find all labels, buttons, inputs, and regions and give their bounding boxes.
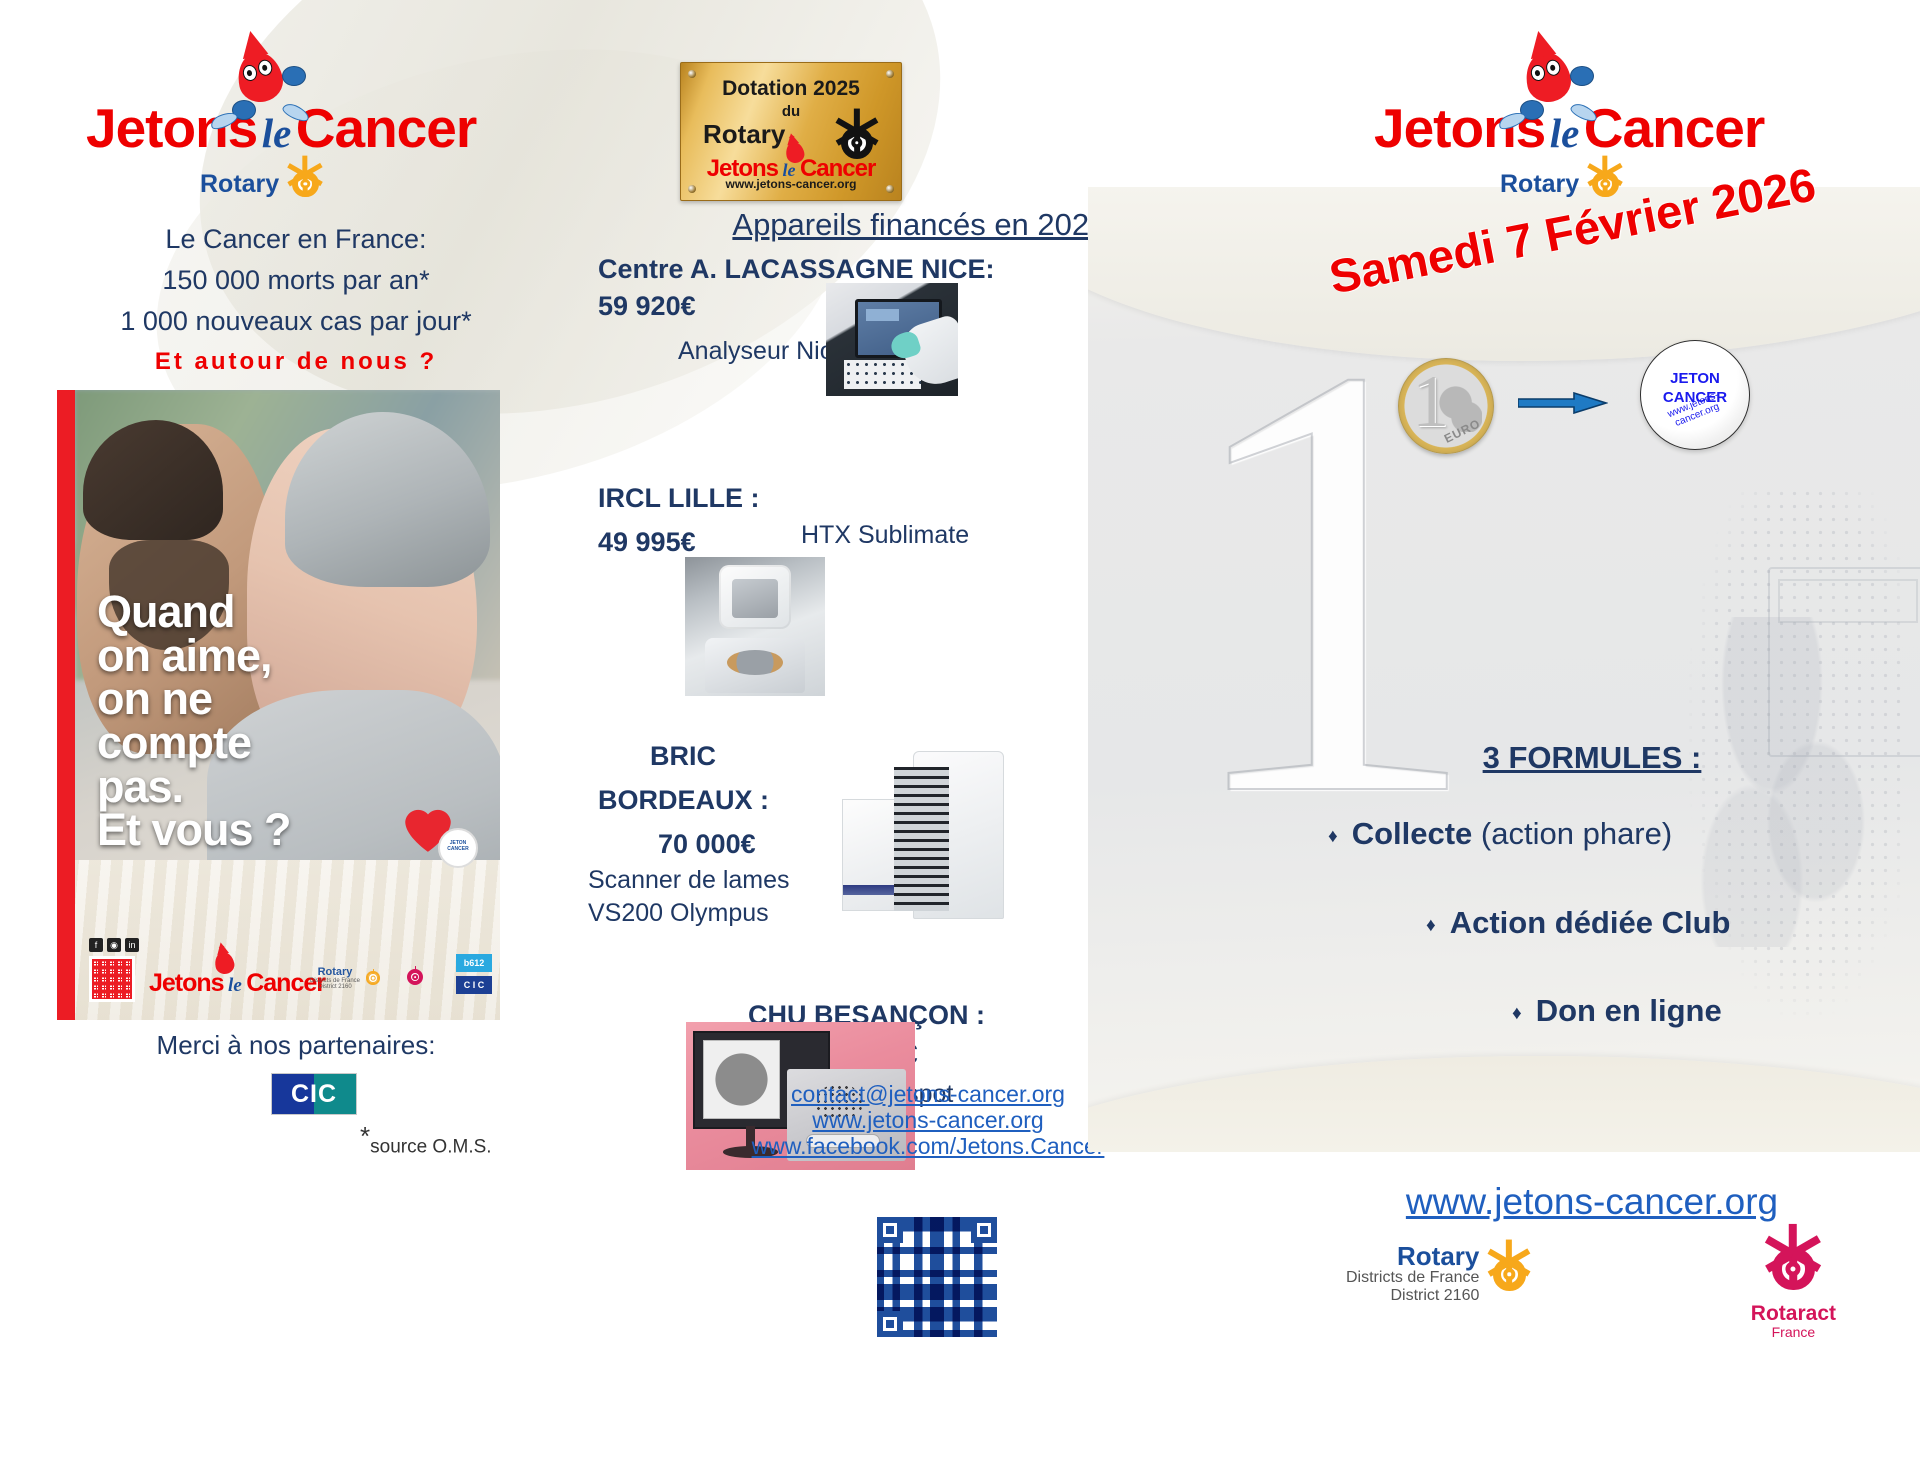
poster-logo-word-le: le xyxy=(228,975,242,996)
partner-cic-logo: CIC xyxy=(271,1073,357,1115)
device-photo-analyseur-nio xyxy=(826,283,958,396)
formule-item-collecte: ♦Collecte (action phare) xyxy=(1328,816,1672,852)
device-org-bric-line-2: BORDEAUX : xyxy=(598,785,769,816)
formule-label-action-dediee: Action dédiée Club xyxy=(1450,905,1731,940)
call-to-action-text: Et autour de nous ? xyxy=(0,348,592,376)
device-amount-bric-bordeaux: 70 000€ xyxy=(658,829,756,860)
poster-rotary-label: Rotary xyxy=(310,966,360,978)
poster-rotary-sub-2: District 2160 xyxy=(310,984,360,990)
poster-quote: Quand on aime, on ne compte pas. Et vous… xyxy=(97,590,437,852)
poster-quote-line-5: pas. xyxy=(97,765,437,809)
right-panel-background-band: 1 xyxy=(1088,187,1920,1152)
linkedin-icon: in xyxy=(125,938,139,952)
logo-word-cancer: Cancer xyxy=(296,97,476,159)
plaque-url: www.jetons-cancer.org xyxy=(681,177,901,191)
poster-jeton-badge: JETON CANCER xyxy=(438,828,478,868)
poster-logo-word-jetons: Jetons xyxy=(149,969,224,997)
rotaract-wheel-icon xyxy=(1764,1240,1822,1298)
plaque-line-dotation: Dotation 2025 xyxy=(681,77,901,101)
mascot-eye-right-icon-right xyxy=(1545,58,1562,77)
plaque-line-du: du xyxy=(681,103,901,120)
plaque-line-rotary: Rotary xyxy=(703,119,785,150)
bullet-diamond-icon-2: ♦ xyxy=(1426,915,1436,936)
formules-heading: 3 FORMULES : xyxy=(1264,740,1920,776)
poster-logo-jetons-le-cancer: Jetons le Cancer xyxy=(149,969,325,998)
formule-note-collecte: (action phare) xyxy=(1472,816,1672,851)
source-footnote: *source O.M.S. xyxy=(360,1121,492,1158)
jeton-token-graphic: JETON CANCER www.jetons-cancer.org xyxy=(1640,340,1750,450)
poster-quote-line-2: on aime, xyxy=(97,634,437,678)
poster-partner-cic-logo: C I C xyxy=(456,976,492,994)
device-slide-rack xyxy=(894,767,949,911)
stat-deaths-per-year: 150 000 morts par an* xyxy=(0,265,592,296)
logo-word-le: le xyxy=(262,110,292,156)
rotaract-lockup: Rotaract France xyxy=(1751,1240,1836,1340)
device-org-lacassagne: Centre A. LACASSAGNE NICE: xyxy=(598,254,995,285)
bullet-diamond-icon-1: ♦ xyxy=(1328,826,1338,847)
panel-left: Jetons le Cancer Rotary xyxy=(0,0,592,1483)
source-asterisk: * xyxy=(360,1121,370,1151)
logo-right-word-le: le xyxy=(1550,110,1580,156)
device-photo-htx-sublimate xyxy=(685,557,825,696)
logo-right-word-cancer: Cancer xyxy=(1584,97,1764,159)
device-org-ircl-lille: IRCL LILLE : xyxy=(598,483,760,514)
rotary-districts-name: Rotary xyxy=(1346,1243,1479,1269)
poster-quote-line-3: on ne xyxy=(97,677,437,721)
device-amount-lacassagne: 59 920€ xyxy=(598,291,696,322)
rotaract-name: Rotaract xyxy=(1751,1303,1836,1324)
facebook-icon: f xyxy=(89,938,103,952)
device-photo-vs200-olympus xyxy=(842,735,1004,935)
euro-coin-graphic: 1 EURO xyxy=(1398,358,1494,454)
poster-rotaract-wheel-icon xyxy=(404,966,426,988)
jeton-token-line-1: JETON xyxy=(1641,370,1749,387)
instagram-icon: ◉ xyxy=(107,938,121,952)
poster-quote-line-1: Quand xyxy=(97,590,437,634)
poster-partner-b612-logo: b612 xyxy=(456,954,492,972)
logo-jetons-le-cancer-right: Jetons le Cancer xyxy=(1374,96,1764,160)
poster-footer-bar: f ◉ in Jetons le Cancer Rotary Dist xyxy=(75,930,500,1020)
device-name-scanner-line-1: Scanner de lames xyxy=(588,866,790,895)
mascot-eye-left-icon-right xyxy=(1529,64,1546,83)
mascot-eye-right-icon xyxy=(257,58,274,77)
rotaract-sub: France xyxy=(1751,1324,1836,1340)
device-name-scanner-line-2: VS200 Olympus xyxy=(588,899,769,928)
partners-heading: Merci à nos partenaires: xyxy=(0,1030,592,1061)
poster-rotary-wheel-icon xyxy=(364,969,382,987)
mascot-eye-left-icon xyxy=(241,64,258,83)
cic-logo-text: CIC xyxy=(272,1074,356,1114)
rotary-label: Rotary xyxy=(200,170,279,199)
logo-jetons-le-cancer-left: Jetons le Cancer xyxy=(86,96,476,160)
qr-code[interactable] xyxy=(877,1217,997,1337)
formule-label-collecte: Collecte xyxy=(1352,816,1473,851)
formule-item-action-dediee: ♦Action dédiée Club xyxy=(1426,905,1730,941)
watermark-frame-relief xyxy=(1768,567,1920,757)
poster-red-accent-bar xyxy=(57,390,75,1020)
rotary-districts-lockup: Rotary Districts de France District 2160 xyxy=(1346,1243,1531,1306)
boxing-glove-right-icon-right xyxy=(1570,66,1594,86)
poster-qr-code-icon xyxy=(89,956,135,1002)
background-wave-bottom xyxy=(1088,1056,1920,1153)
bullet-diamond-icon-3: ♦ xyxy=(1512,1003,1522,1024)
rotary-districts-sub-1: Districts de France xyxy=(1346,1269,1479,1287)
brochure-tri-fold: Jetons le Cancer Rotary xyxy=(0,0,1920,1483)
boxing-glove-right-icon xyxy=(282,66,306,86)
rotary-lockup-left: Rotary xyxy=(200,166,323,202)
device-lid xyxy=(719,565,792,629)
stat-new-cases-per-day: 1 000 nouveaux cas par jour* xyxy=(0,306,592,337)
qr-finder-top-right-icon xyxy=(971,1217,997,1243)
website-link-right[interactable]: www.jetons-cancer.org xyxy=(1264,1181,1920,1223)
rotary-districts-text: Rotary Districts de France District 2160 xyxy=(1346,1243,1479,1306)
device-base xyxy=(705,638,806,694)
campaign-poster-image: Quand on aime, on ne compte pas. Et vous… xyxy=(57,390,500,1020)
formule-label-don-en-ligne: Don en ligne xyxy=(1536,993,1722,1028)
rotary-label-right: Rotary xyxy=(1500,170,1579,199)
poster-quote-line-6: Et vous ? xyxy=(97,808,437,852)
poster-quote-line-4: compte xyxy=(97,721,437,765)
poster-rotary-lockup: Rotary Districts de France District 2160 xyxy=(310,966,382,990)
poster-social-icons: f ◉ in xyxy=(89,938,139,952)
arrow-right-icon xyxy=(1518,392,1608,414)
device-name-htx-sublimate: HTX Sublimate xyxy=(801,521,969,550)
device-name-analyseur-nio: Analyseur Nio xyxy=(678,337,834,366)
stat-heading: Le Cancer en France: xyxy=(0,224,592,255)
qr-finder-top-left-icon xyxy=(877,1217,903,1243)
dotation-plaque: Dotation 2025 du Rotary Jetons le Cancer xyxy=(680,62,902,201)
qr-finder-bottom-left-icon xyxy=(877,1311,903,1337)
rotary-wheel-icon xyxy=(287,166,323,202)
poster-badge-line-2: CANCER xyxy=(440,847,476,853)
device-org-bric-line-1: BRIC xyxy=(650,741,716,772)
source-text: source O.M.S. xyxy=(370,1136,491,1157)
device-amount-ircl-lille: 49 995€ xyxy=(598,527,696,558)
rotary-districts-sub-2: District 2160 xyxy=(1346,1287,1479,1305)
rotary-districts-wheel-icon xyxy=(1487,1252,1531,1296)
formule-item-don-en-ligne: ♦Don en ligne xyxy=(1512,993,1722,1029)
poster-rotary-text: Rotary Districts de France District 2160 xyxy=(310,966,360,990)
